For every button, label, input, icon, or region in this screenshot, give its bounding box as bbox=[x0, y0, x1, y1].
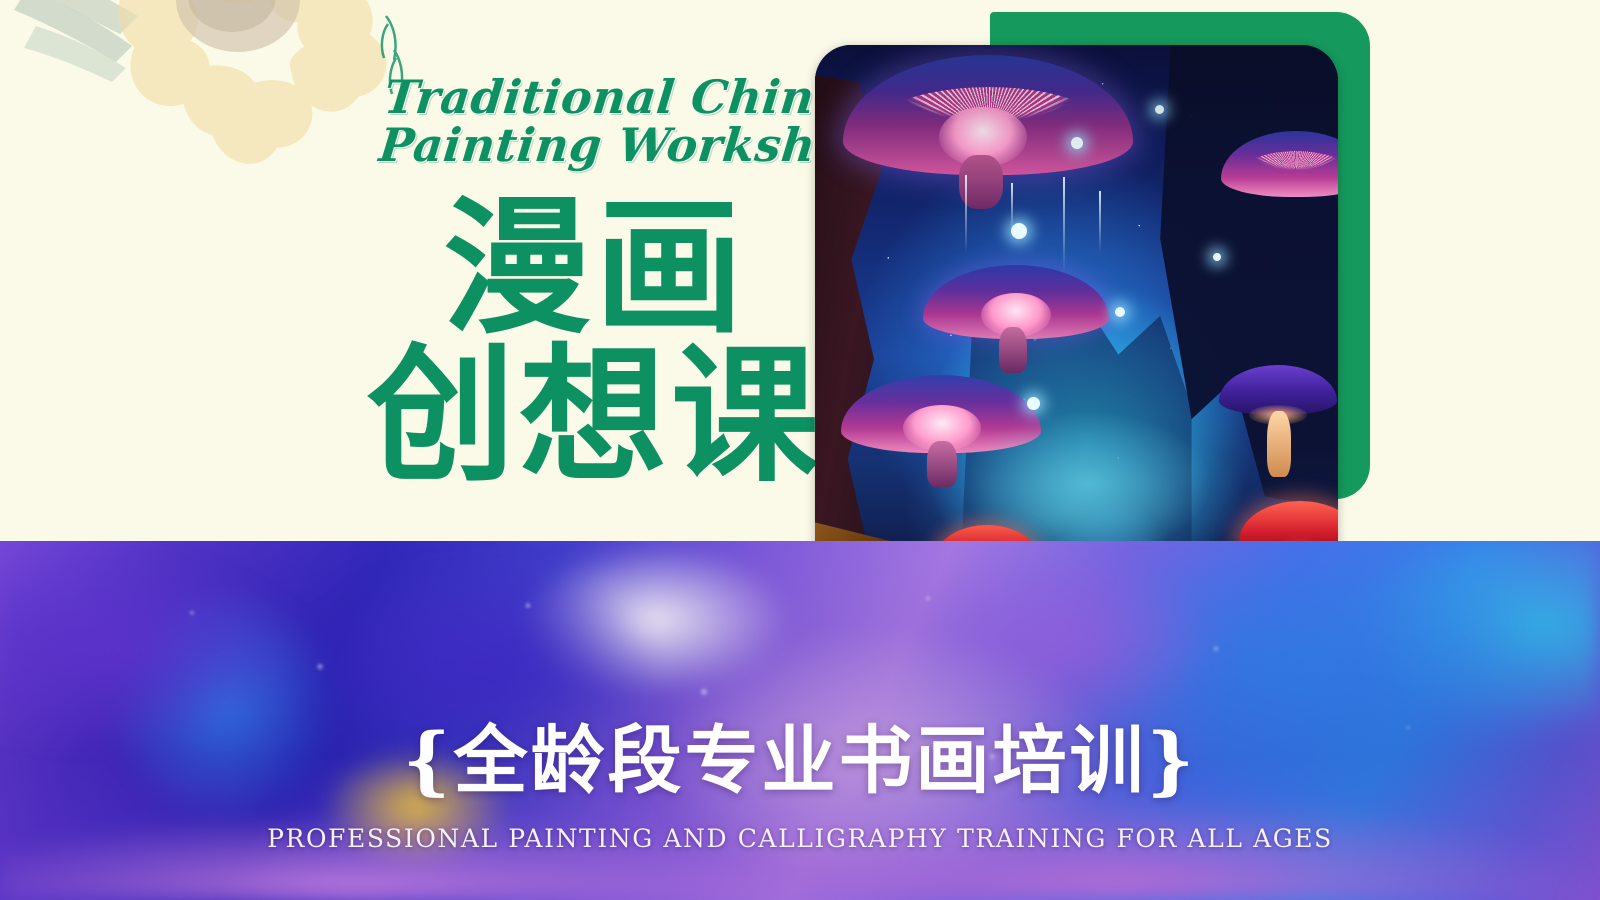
script-heading-line2: Painting Workshop bbox=[377, 122, 802, 170]
script-heading-line1: Traditional Chinese bbox=[382, 74, 807, 122]
footer-chinese-text: {全龄段专业书画培训} bbox=[0, 724, 1600, 798]
page-title-line1: 漫画 bbox=[360, 196, 830, 340]
footer-english-text: PROFESSIONAL PAINTING AND CALLIGRAPHY TR… bbox=[0, 826, 1600, 851]
script-heading: Traditional Chinese Painting Workshop bbox=[377, 74, 807, 170]
page-title-line2: 创想课 bbox=[360, 344, 830, 488]
poster-canvas: Traditional Chinese Painting Workshop 漫画… bbox=[0, 0, 1600, 900]
page-title: 漫画 创想课 bbox=[360, 196, 830, 487]
